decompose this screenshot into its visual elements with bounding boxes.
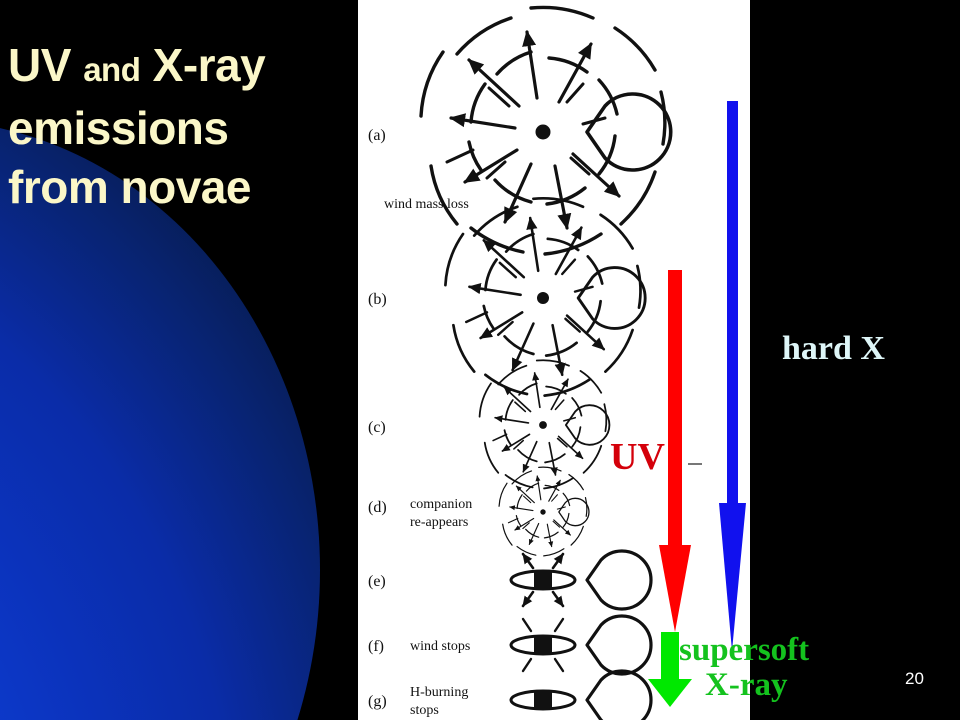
svg-text:(g): (g)	[368, 693, 387, 710]
svg-text:stops: stops	[410, 703, 439, 718]
title-word-xray: X-ray	[153, 39, 266, 91]
svg-text:H-burning: H-burning	[410, 685, 468, 700]
svg-text:companion: companion	[410, 497, 472, 512]
svg-text:(a): (a)	[368, 127, 386, 144]
svg-text:(c): (c)	[368, 419, 386, 436]
supersoft-label-line1: supersoft	[679, 632, 809, 669]
uv-label: UV	[610, 435, 665, 479]
title-line-from-novae: from novae	[8, 161, 251, 213]
title-word-uv: UV	[8, 39, 71, 91]
page-number: 20	[905, 669, 924, 689]
nova-evolution-figure: (a) wind mass loss (b) (c) (d) companion…	[358, 0, 750, 720]
svg-text:(d): (d)	[368, 499, 387, 516]
hard-x-label: hard X	[782, 330, 885, 368]
svg-text:wind stops: wind stops	[410, 639, 470, 654]
nova-evolution-diagram: (a) wind mass loss (b) (c) (d) companion…	[358, 0, 750, 720]
title-line-emissions: emissions	[8, 102, 229, 154]
supersoft-label-line2: X-ray	[705, 667, 787, 704]
svg-text:wind mass loss: wind mass loss	[384, 197, 469, 212]
svg-text:(e): (e)	[368, 573, 386, 590]
page-title: UV and X-ray emissions from novae	[8, 36, 348, 217]
svg-text:re-appears: re-appears	[410, 515, 468, 530]
slide-canvas: UV and X-ray emissions from novae	[0, 0, 960, 720]
svg-text:(b): (b)	[368, 291, 387, 308]
svg-text:(f): (f)	[368, 638, 384, 655]
title-word-and: and	[83, 51, 140, 88]
